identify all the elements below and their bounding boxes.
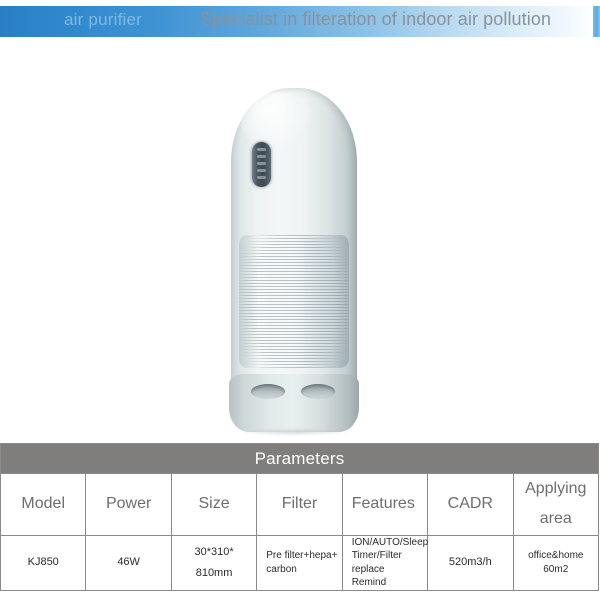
table-row: KJ850 46W 30*310* 810mm Pre filter+hepa+…: [1, 535, 599, 590]
product-shadow: [237, 428, 351, 436]
panel-button-4: [257, 169, 266, 172]
applying-area-line-1: Applying: [514, 474, 598, 504]
column-header-cadr: CADR: [428, 474, 513, 536]
cell-filter-line-1: Pre filter+hepa+: [266, 549, 341, 563]
panel-button-1: [257, 148, 266, 151]
panel-button-5: [257, 176, 266, 179]
cell-features-line-3: Remind: [352, 576, 427, 590]
brand-label: air purifier: [64, 10, 142, 30]
column-header-features: Features: [342, 474, 427, 536]
applying-area-line-2: area: [514, 504, 598, 534]
purifier-base: [229, 374, 359, 432]
panel-button-2: [257, 155, 266, 158]
cell-cadr: 520m3/h: [428, 535, 513, 590]
table-header-row: Model Power Size Filter Features CADR Ap…: [1, 474, 599, 536]
column-header-size: Size: [171, 474, 256, 536]
cell-size-line-1: 30*310*: [172, 542, 256, 563]
air-purifier-product-image: [231, 88, 357, 436]
table-title-row: Parameters: [1, 444, 599, 474]
cell-filter-line-2: carbon: [266, 563, 341, 577]
cell-features-line-1: ION/AUTO/Sleep: [352, 536, 427, 550]
banner-right-edge-bar: [593, 6, 600, 37]
top-banner: air purifier Specialist in filteration o…: [0, 6, 600, 37]
cell-size-line-2: 810mm: [172, 563, 256, 584]
cell-applying-line-2: 60m2: [514, 563, 598, 577]
panel-button-3: [257, 162, 266, 165]
cell-model: KJ850: [1, 535, 86, 590]
cell-features: ION/AUTO/Sleep Timer/Filter replace Remi…: [342, 535, 427, 590]
column-header-filter: Filter: [257, 474, 342, 536]
base-vent-right: [301, 384, 335, 399]
cell-applying-area: office&home 60m2: [513, 535, 598, 590]
tagline-label: Specialist in filteration of indoor air …: [200, 9, 551, 30]
cell-size: 30*310* 810mm: [171, 535, 256, 590]
cell-applying-line-1: office&home: [514, 549, 598, 563]
body-highlight: [241, 92, 315, 152]
grille-shading: [239, 235, 349, 368]
cell-features-line-2: Timer/Filter replace: [352, 549, 427, 576]
control-panel-icon: [252, 142, 271, 187]
parameters-table: Parameters Model Power Size Filter Featu…: [0, 443, 599, 591]
product-image-area: [0, 40, 600, 438]
table-title: Parameters: [1, 444, 599, 474]
cell-power: 46W: [86, 535, 171, 590]
column-header-applying-area: Applying area: [513, 474, 598, 536]
cell-filter: Pre filter+hepa+ carbon: [257, 535, 342, 590]
column-header-power: Power: [86, 474, 171, 536]
column-header-model: Model: [1, 474, 86, 536]
base-vent-left: [251, 384, 285, 399]
